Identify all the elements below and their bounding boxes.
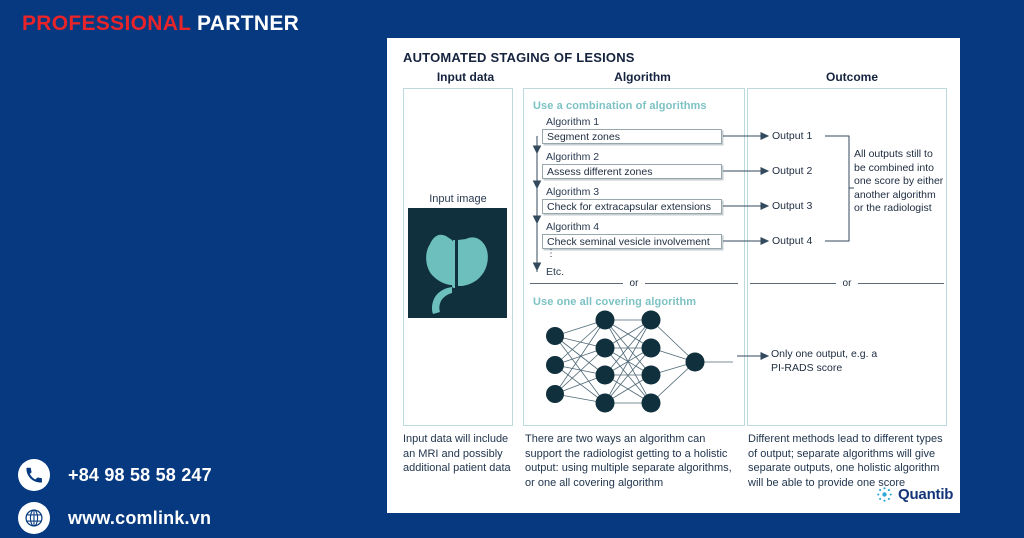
banner-title: PROFESSIONAL PARTNER <box>22 12 299 36</box>
output-label-3: Output 3 <box>772 200 812 212</box>
algorithm-step-box-4[interactable]: Check seminal vesicle involvement <box>542 234 722 249</box>
input-image <box>408 208 507 318</box>
banner-title-professional: PROFESSIONAL <box>22 12 191 35</box>
outcome-single-output-note: Only one output, e.g. a PI-RADS score <box>771 348 891 375</box>
quantib-logo: Quantib <box>876 486 953 503</box>
outcome-or-divider: or <box>750 279 944 288</box>
contact-website[interactable]: www.comlink.vn <box>18 502 211 534</box>
column-header-outcome: Outcome <box>757 70 947 84</box>
algorithm-or-divider: or <box>530 279 738 288</box>
divider-line-left-2 <box>750 283 836 284</box>
algorithm-continuation-dots: ⋮ <box>546 252 556 256</box>
contact-phone-text: +84 98 58 58 247 <box>68 465 212 486</box>
outcome-combine-note: All outputs still to be combined into on… <box>854 148 946 216</box>
banner-title-partner: PARTNER <box>197 12 299 35</box>
algorithm-step-label-2: Algorithm 2 <box>546 151 599 163</box>
outcome-or-label: or <box>836 279 859 288</box>
column-header-input-data: Input data <box>403 70 528 84</box>
output-label-4: Output 4 <box>772 235 812 247</box>
output-label-1: Output 1 <box>772 130 812 142</box>
column-header-algorithm: Algorithm <box>535 70 750 84</box>
input-image-label: Input image <box>403 193 513 205</box>
caption-outcome: Different methods lead to different type… <box>748 432 953 490</box>
quantib-logo-text: Quantib <box>898 486 953 503</box>
algorithm-combination-heading: Use a combination of algorithms <box>533 100 707 112</box>
divider-line-right <box>645 283 738 284</box>
caption-input-data: Input data will include an MRI and possi… <box>403 432 521 476</box>
contact-phone[interactable]: +84 98 58 58 247 <box>18 459 212 491</box>
algorithm-step-label-4: Algorithm 4 <box>546 221 599 233</box>
algorithm-step-box-2[interactable]: Assess different zones <box>542 164 722 179</box>
output-label-2: Output 2 <box>772 165 812 177</box>
divider-line-left <box>530 283 623 284</box>
globe-icon <box>18 502 50 534</box>
contact-website-text: www.comlink.vn <box>68 508 211 529</box>
quantib-logo-icon <box>876 486 893 503</box>
algorithm-or-label: or <box>623 279 646 288</box>
algorithm-step-label-1: Algorithm 1 <box>546 116 599 128</box>
divider-line-right-2 <box>858 283 944 284</box>
algorithm-step-box-3[interactable]: Check for extracapsular extensions <box>542 199 722 214</box>
diagram-card: AUTOMATED STAGING OF LESIONS Input data … <box>387 38 960 513</box>
diagram-title: AUTOMATED STAGING OF LESIONS <box>403 50 635 65</box>
algorithm-etc-label: Etc. <box>546 266 564 278</box>
algorithm-single-heading: Use one all covering algorithm <box>533 296 696 308</box>
phone-icon <box>18 459 50 491</box>
caption-algorithm: There are two ways an algorithm can supp… <box>525 432 737 490</box>
algorithm-step-label-3: Algorithm 3 <box>546 186 599 198</box>
algorithm-step-box-1[interactable]: Segment zones <box>542 129 722 144</box>
